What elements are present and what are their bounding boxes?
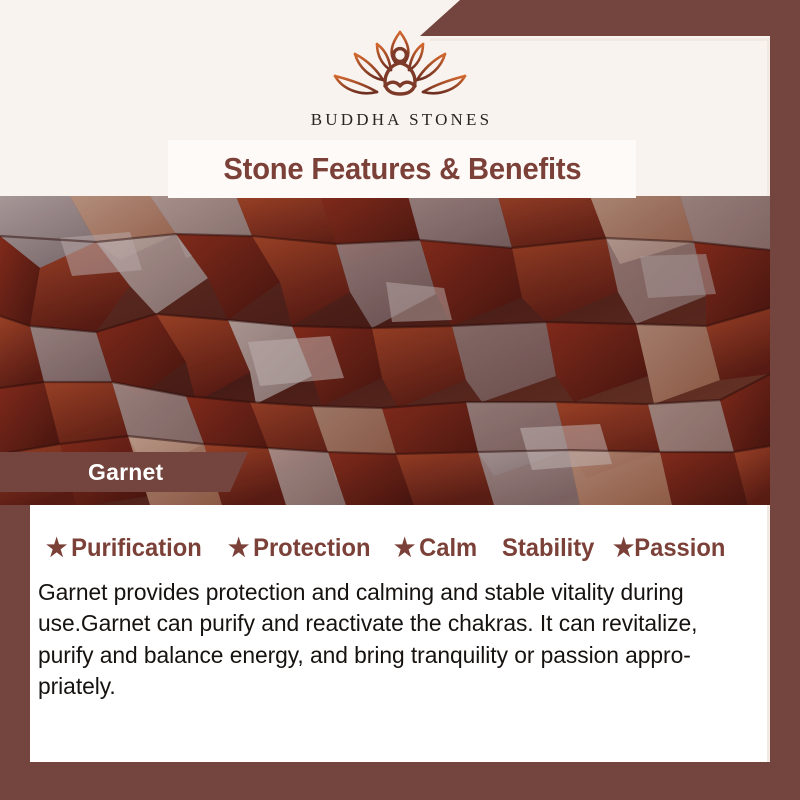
benefit-label: Purification	[71, 534, 202, 563]
poster-root: BUDDHA STONES Stone Features & Benefits	[0, 0, 800, 800]
benefit-passion: ★ Passion	[613, 534, 725, 563]
benefits-row: ★ Purification ★ Protection ★ Calm Stabi…	[46, 531, 760, 565]
brand-logo: BUDDHA STONES	[0, 24, 800, 130]
benefit-stability: Stability	[502, 534, 594, 563]
page-title-band: Stone Features & Benefits	[168, 140, 636, 198]
frame-left-bar	[0, 486, 30, 800]
star-icon: ★	[228, 536, 249, 561]
frame-bottom-wrap	[0, 762, 780, 800]
stone-name-tag: Garnet	[0, 452, 248, 492]
benefit-calm: ★ Calm	[394, 534, 477, 563]
lotus-meditation-icon	[325, 24, 475, 108]
benefit-label: Protection	[253, 534, 370, 563]
star-icon: ★	[394, 536, 415, 561]
benefit-label: Stability	[502, 534, 594, 563]
page-title: Stone Features & Benefits	[223, 151, 581, 187]
star-icon: ★	[46, 536, 67, 561]
frame-right-bar	[770, 36, 800, 800]
stone-description: Garnet provides protection and calming a…	[38, 577, 733, 702]
star-icon: ★	[613, 536, 634, 561]
frame-bottom-bar	[0, 762, 780, 800]
benefit-purification: ★ Purification	[46, 534, 202, 563]
benefit-label: Calm	[419, 534, 477, 563]
stone-name-label: Garnet	[0, 459, 163, 486]
benefit-protection: ★ Protection	[228, 534, 371, 563]
benefit-label: Passion	[634, 534, 725, 563]
brand-name: BUDDHA STONES	[311, 110, 493, 130]
